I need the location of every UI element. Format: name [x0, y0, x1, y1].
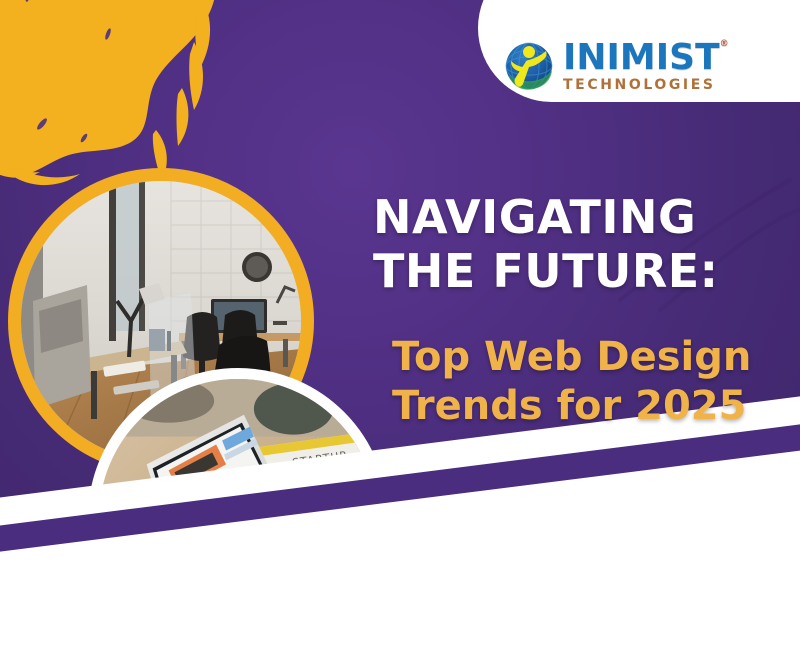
brand-header-card: INIMIST ® TECHNOLOGIES: [478, 0, 800, 102]
subheadline-line-2: Trends for 2025: [392, 382, 792, 431]
page-subtitle: Top Web Design Trends for 2025: [392, 333, 792, 431]
paint-splash-decoration-icon: [0, 0, 256, 188]
globe-person-icon: [504, 41, 554, 91]
brand-name-text: INIMIST: [563, 37, 720, 78]
brand-tagline: TECHNOLOGIES: [563, 78, 720, 92]
registered-trademark-icon: ®: [720, 40, 729, 49]
social-media-banner: STARTUP: [0, 0, 800, 650]
subheadline-line-1: Top Web Design: [392, 333, 792, 382]
headline-line-2: THE FUTURE:: [373, 244, 773, 298]
page-title: NAVIGATING THE FUTURE:: [373, 190, 773, 299]
brand-wordmark: INIMIST ® TECHNOLOGIES: [563, 40, 720, 92]
headline-line-1: NAVIGATING: [373, 190, 773, 244]
brand-name: INIMIST ®: [563, 40, 720, 76]
brand-logo[interactable]: INIMIST ® TECHNOLOGIES: [504, 40, 720, 92]
